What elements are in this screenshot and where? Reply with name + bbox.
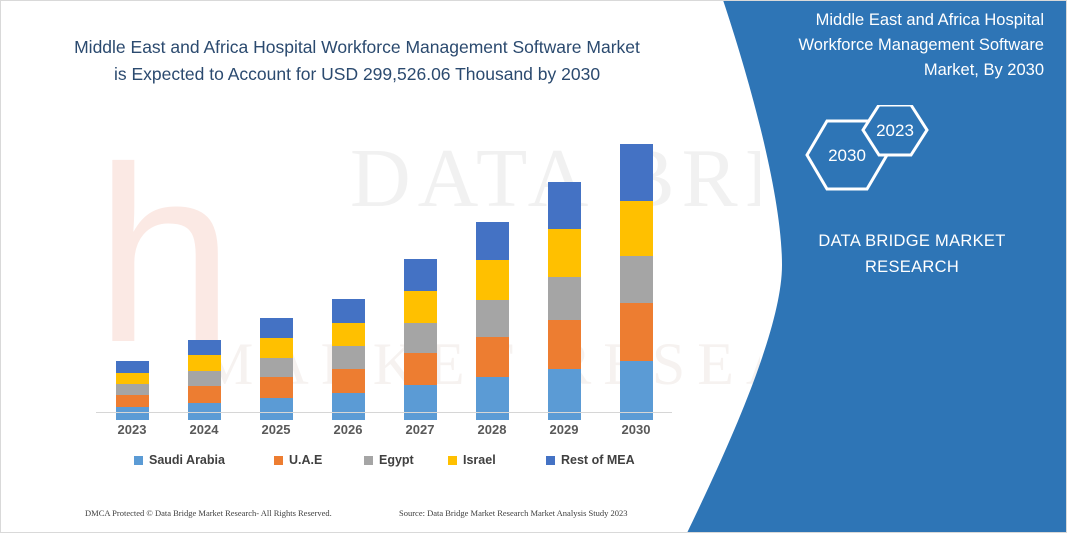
bar-segment — [404, 323, 437, 353]
bar-segment — [188, 386, 221, 403]
stacked-bar — [620, 144, 653, 420]
chart-title: Middle East and Africa Hospital Workforc… — [72, 34, 642, 88]
legend-label: Israel — [463, 453, 496, 467]
legend-item[interactable]: Egypt — [364, 453, 414, 467]
x-axis-line — [96, 412, 672, 413]
bar-segment — [548, 182, 581, 229]
x-axis-tick: 2029 — [528, 422, 600, 437]
stacked-bar — [260, 318, 293, 420]
x-axis-tick: 2023 — [96, 422, 168, 437]
bar-segment — [116, 384, 149, 395]
bar-segment — [476, 260, 509, 300]
chart-plot-area — [96, 120, 672, 420]
bar-column — [384, 259, 456, 420]
x-axis-tick: 2027 — [384, 422, 456, 437]
bar-segment — [188, 371, 221, 386]
bar-column — [456, 222, 528, 420]
legend-swatch-icon — [448, 456, 457, 465]
brand-name: DATA BRIDGE MARKET RESEARCH — [797, 228, 1027, 280]
stacked-bar — [476, 222, 509, 420]
bar-segment — [260, 398, 293, 420]
legend-swatch-icon — [274, 456, 283, 465]
bar-segment — [260, 338, 293, 358]
bar-segment — [476, 300, 509, 337]
bar-segment — [404, 385, 437, 420]
bar-segment — [116, 373, 149, 384]
stacked-bar — [332, 299, 365, 420]
stacked-bar — [548, 182, 581, 420]
chart-legend: Saudi ArabiaU.A.EEgyptIsraelRest of MEA — [96, 453, 672, 477]
legend-label: Rest of MEA — [561, 453, 635, 467]
x-axis-labels: 20232024202520262027202820292030 — [96, 422, 672, 444]
bar-segment — [620, 256, 653, 303]
bar-segment — [188, 355, 221, 371]
footer-source: Source: Data Bridge Market Research Mark… — [399, 508, 628, 518]
bar-segment — [476, 222, 509, 260]
legend-swatch-icon — [134, 456, 143, 465]
bar-segment — [332, 323, 365, 346]
bar-segment — [548, 320, 581, 369]
x-axis-tick: 2028 — [456, 422, 528, 437]
hexagon-badges: 2030 2023 — [797, 105, 997, 205]
bar-column — [168, 340, 240, 420]
bar-segment — [476, 337, 509, 377]
legend-swatch-icon — [546, 456, 555, 465]
x-axis-tick: 2026 — [312, 422, 384, 437]
bar-segment — [404, 353, 437, 385]
footer-copyright: DMCA Protected © Data Bridge Market Rese… — [85, 508, 332, 518]
bar-column — [312, 299, 384, 420]
panel-title: Middle East and Africa Hospital Workforc… — [744, 8, 1044, 83]
bar-column — [600, 144, 672, 420]
bar-segment — [260, 318, 293, 338]
stacked-bar — [188, 340, 221, 420]
brand-panel: Middle East and Africa Hospital Workforc… — [687, 0, 1067, 533]
x-axis-tick: 2030 — [600, 422, 672, 437]
bar-segment — [404, 259, 437, 291]
bar-segment — [116, 361, 149, 373]
bar-segment — [332, 346, 365, 369]
legend-label: Saudi Arabia — [149, 453, 225, 467]
bar-segment — [188, 340, 221, 355]
bar-segment — [548, 277, 581, 320]
bar-column — [528, 182, 600, 420]
legend-swatch-icon — [364, 456, 373, 465]
hexagon-2023-label: 2023 — [876, 121, 914, 140]
bar-segment — [620, 303, 653, 361]
brand-line-1: DATA BRIDGE MARKET — [797, 228, 1027, 254]
stacked-bar — [404, 259, 437, 420]
legend-label: U.A.E — [289, 453, 322, 467]
legend-item[interactable]: Rest of MEA — [546, 453, 635, 467]
bar-segment — [620, 201, 653, 256]
brand-line-2: RESEARCH — [797, 254, 1027, 280]
hexagon-2030-label: 2030 — [828, 146, 866, 165]
legend-item[interactable]: Saudi Arabia — [134, 453, 225, 467]
bar-segment — [476, 377, 509, 420]
bar-segment — [260, 358, 293, 377]
legend-item[interactable]: U.A.E — [274, 453, 322, 467]
bar-segment — [332, 369, 365, 393]
bar-segment — [620, 144, 653, 201]
bar-column — [240, 318, 312, 420]
bar-segment — [404, 291, 437, 323]
bar-segment — [116, 407, 149, 420]
x-axis-tick: 2025 — [240, 422, 312, 437]
legend-label: Egypt — [379, 453, 414, 467]
legend-item[interactable]: Israel — [448, 453, 496, 467]
x-axis-tick: 2024 — [168, 422, 240, 437]
bar-segment — [332, 393, 365, 420]
bar-segment — [548, 229, 581, 277]
bar-segment — [116, 395, 149, 407]
bar-segment — [332, 299, 365, 323]
bar-segment — [260, 377, 293, 398]
infographic-canvas: h DATA BRIDGE MARKET RESEARCH Middle Eas… — [0, 0, 1067, 533]
